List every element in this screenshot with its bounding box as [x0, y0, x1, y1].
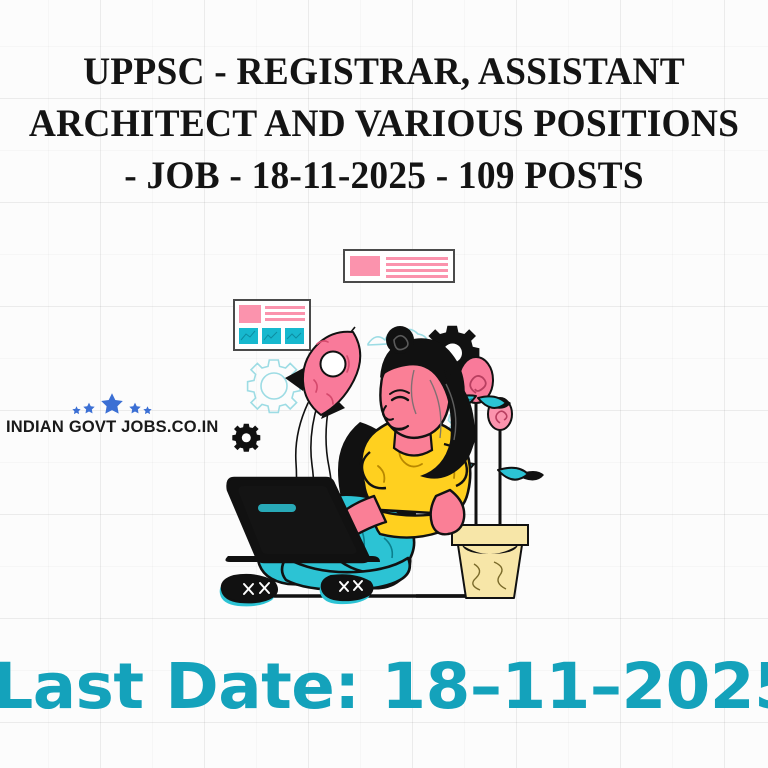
document-card-top	[344, 250, 454, 282]
shoe-left	[220, 575, 277, 607]
gear-black-tiny	[232, 424, 260, 452]
leaf-upper-right	[478, 396, 511, 408]
leaf-lower-right	[498, 468, 544, 481]
last-date-text: Last Date: 18–11–2025	[0, 650, 768, 724]
shoe-right	[320, 575, 373, 604]
illustration-woman-working-on-laptop	[178, 228, 598, 640]
title-line-1: UPPSC - REGISTRAR, ASSISTANT	[15, 46, 752, 98]
gear-outline-left	[248, 360, 300, 412]
title-line-3: - JOB - 18-11-2025 - 109 POSTS	[15, 150, 752, 202]
document-card-left	[234, 300, 310, 350]
title-line-2: ARCHITECT AND VARIOUS POSITIONS	[15, 98, 752, 150]
job-poster: UPPSC - REGISTRAR, ASSISTANT ARCHITECT A…	[0, 0, 768, 768]
page-title: UPPSC - REGISTRAR, ASSISTANT ARCHITECT A…	[15, 46, 752, 202]
